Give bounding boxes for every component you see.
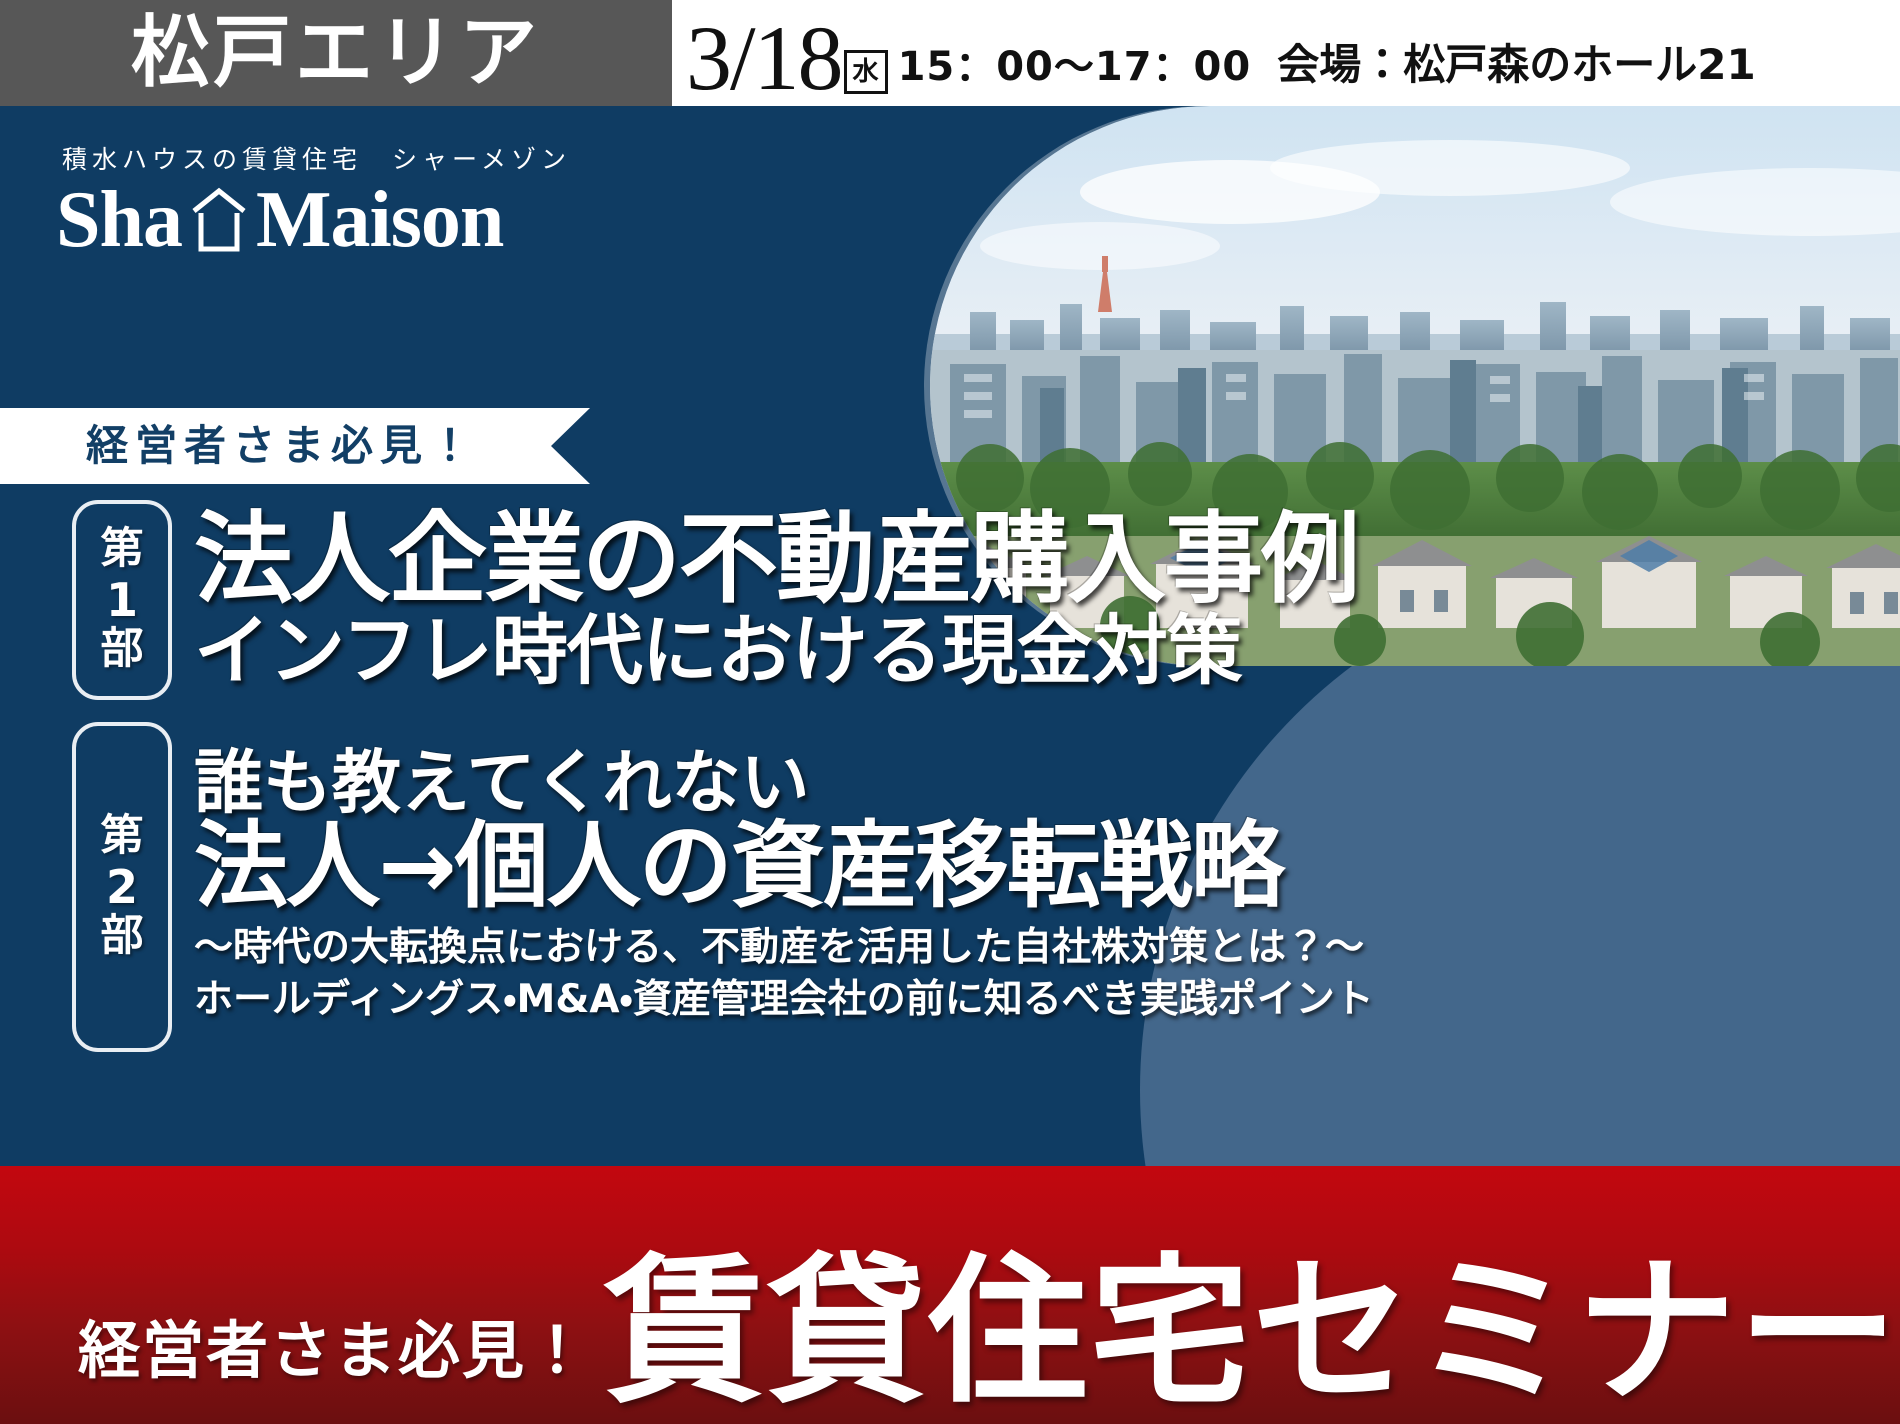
event-time: 15：00〜17：00 bbox=[898, 34, 1252, 92]
day-of-week-badge: 水 bbox=[844, 50, 888, 94]
part-2-badge: 第 2 部 bbox=[72, 722, 172, 1052]
part-2-note-line-2: ホールディングス・M&A・資産管理会社の前に知るべき実践ポイント bbox=[194, 974, 1600, 1026]
event-venue: 会場：松戸森のホール21 bbox=[1277, 31, 1755, 92]
house-icon bbox=[188, 185, 250, 255]
part-2-title: 法人→個人の資産移転戦略 bbox=[194, 817, 1600, 917]
attention-ribbon: 経営者さま必見！ bbox=[0, 408, 590, 484]
part-1-subtitle: インフレ時代における現金対策 bbox=[194, 611, 1600, 692]
header-bar: 松戸エリア 3/18 水 15：00〜17：00 会場：松戸森のホール21 bbox=[0, 0, 1900, 106]
seminar-poster: 松戸エリア 3/18 水 15：00〜17：00 会場：松戸森のホール21 bbox=[0, 0, 1900, 1424]
footer-banner: 経営者さま必見！ 賃貸住宅セミナー bbox=[0, 1166, 1900, 1424]
part-1-body: 法人企業の不動産購入事例 インフレ時代における現金対策 bbox=[172, 500, 1600, 700]
part-1-badge: 第 1 部 bbox=[72, 500, 172, 700]
part-2-badge-top: 第 bbox=[101, 815, 144, 859]
part-1-title: 法人企業の不動産購入事例 bbox=[194, 508, 1600, 613]
header-info: 3/18 水 15：00〜17：00 会場：松戸森のホール21 bbox=[672, 0, 1900, 106]
part-2-note-line-1: 〜時代の大転換点における、不動産を活用した自社株対策とは？〜 bbox=[194, 922, 1600, 974]
logo-word-left: Sha bbox=[56, 180, 182, 260]
logo-kicker: 積水ハウスの賃貸住宅 シャーメゾン bbox=[62, 140, 571, 176]
part-2-badge-number: 2 bbox=[106, 859, 138, 916]
event-date: 3/18 bbox=[686, 14, 842, 102]
part-1-badge-top: 第 bbox=[101, 528, 144, 572]
sha-maison-logo: 積水ハウスの賃貸住宅 シャーメゾン Sha Maison bbox=[44, 140, 571, 260]
part-2-badge-bottom: 部 bbox=[101, 915, 144, 959]
part-1-badge-bottom: 部 bbox=[101, 628, 144, 672]
footer-title: 賃貸住宅セミナー bbox=[604, 1252, 1900, 1412]
ribbon-label: 経営者さま必見！ bbox=[0, 425, 478, 467]
part-2-body: 誰も教えてくれない 法人→個人の資産移転戦略 〜時代の大転換点における、不動産を… bbox=[172, 722, 1600, 1052]
logo-wordmark: Sha Maison bbox=[56, 180, 571, 260]
program-part-1: 第 1 部 法人企業の不動産購入事例 インフレ時代における現金対策 bbox=[0, 500, 1600, 700]
part-1-badge-number: 1 bbox=[106, 572, 138, 629]
footer-small-text: 経営者さま必見！ bbox=[78, 1320, 590, 1382]
program-list: 第 1 部 法人企業の不動産購入事例 インフレ時代における現金対策 第 2 部 … bbox=[0, 500, 1600, 1052]
logo-word-right: Maison bbox=[256, 180, 503, 260]
part-2-lead: 誰も教えてくれない bbox=[194, 747, 1600, 820]
area-label: 松戸エリア bbox=[0, 0, 672, 106]
program-part-2: 第 2 部 誰も教えてくれない 法人→個人の資産移転戦略 〜時代の大転換点におけ… bbox=[0, 722, 1600, 1052]
